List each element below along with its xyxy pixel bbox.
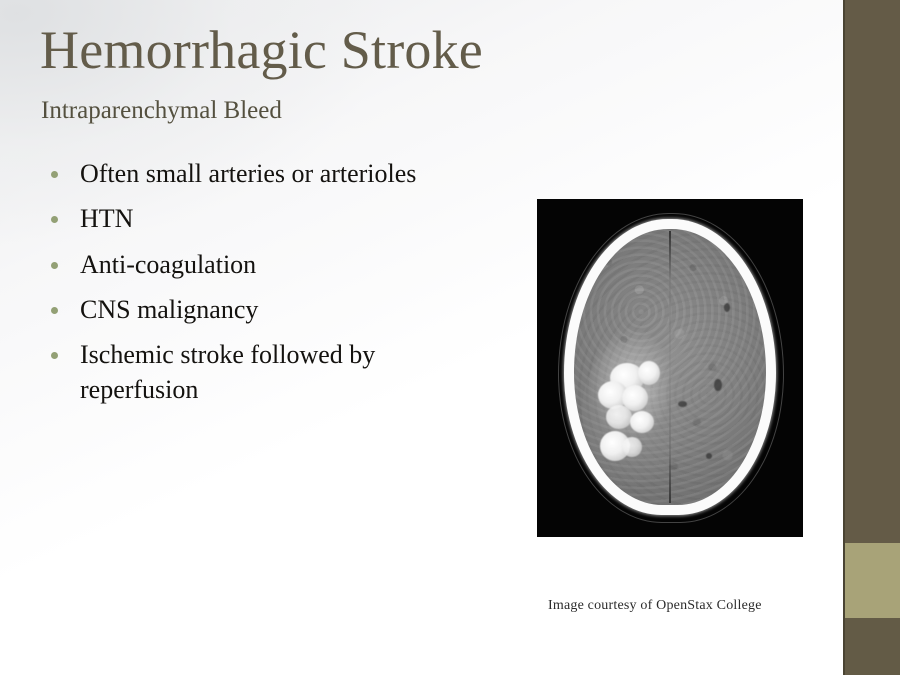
bullet-text: Often small arteries or arterioles [80, 159, 416, 188]
list-item: Often small arteries or arterioles [46, 157, 496, 191]
hypodense-focus [706, 453, 712, 459]
bullet-dot-icon [51, 307, 58, 314]
bullet-dot-icon [51, 216, 58, 223]
hemorrhage-blob [630, 411, 654, 433]
slide-title: Hemorrhagic Stroke [40, 22, 483, 79]
bullet-text: HTN [80, 204, 133, 233]
bullet-list: Often small arteries or arterioles HTN A… [46, 157, 496, 418]
head-ct-image [537, 199, 803, 537]
sidebar-band-bottom [845, 618, 900, 675]
list-item: Ischemic stroke followed by reperfusion [46, 338, 496, 407]
bullet-text: Ischemic stroke followed by reperfusion [80, 340, 375, 403]
hypodense-focus [724, 303, 730, 312]
list-item: CNS malignancy [46, 293, 496, 327]
bullet-dot-icon [51, 171, 58, 178]
hypodense-focus [714, 379, 722, 391]
bullet-dot-icon [51, 262, 58, 269]
sidebar-band-top [845, 0, 900, 543]
list-item: Anti-coagulation [46, 248, 496, 282]
list-item: HTN [46, 202, 496, 236]
sidebar-band-accent [845, 543, 900, 618]
hemorrhage-blob [606, 405, 632, 429]
bullet-text: Anti-coagulation [80, 250, 256, 279]
intraparenchymal-hemorrhage [594, 359, 676, 469]
hypodense-focus [678, 401, 687, 407]
brain-parenchyma [574, 229, 766, 505]
decorative-sidebar [843, 0, 900, 675]
slide-canvas: Hemorrhagic Stroke Intraparenchymal Blee… [0, 0, 900, 675]
hemorrhage-blob [638, 361, 660, 385]
image-caption: Image courtesy of OpenStax College [548, 598, 762, 614]
bullet-text: CNS malignancy [80, 295, 258, 324]
slide-subtitle: Intraparenchymal Bleed [41, 97, 282, 125]
bullet-dot-icon [51, 352, 58, 359]
ct-image-inner [537, 199, 803, 537]
hemorrhage-blob [622, 437, 642, 457]
